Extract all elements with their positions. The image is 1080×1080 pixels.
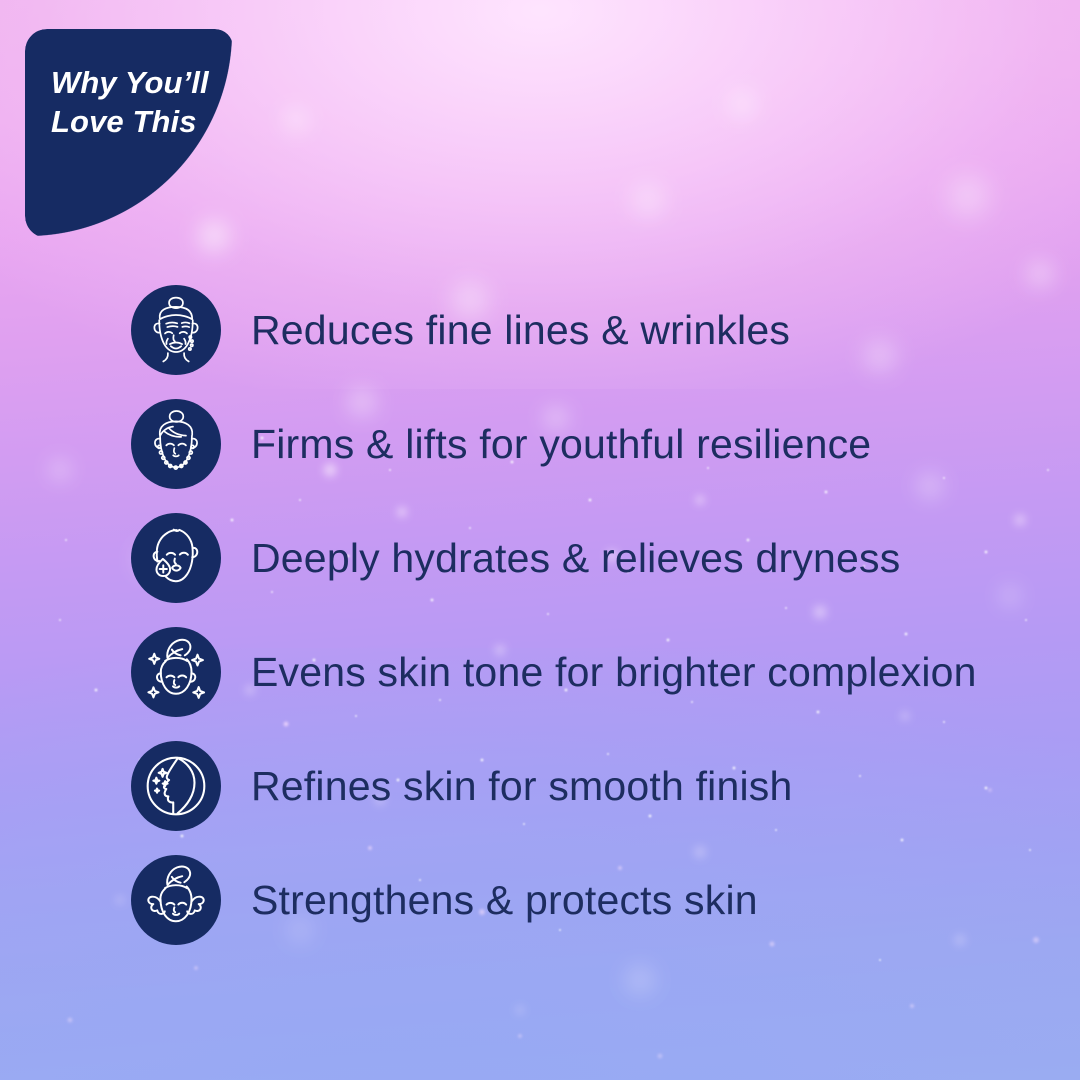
face-leaf-wrap-hands-icon <box>131 855 221 945</box>
why-youll-love-this-badge: Why You’ll Love This <box>25 29 233 238</box>
face-profile-sparkles-icon <box>131 741 221 831</box>
benefit-label: Firms & lifts for youthful resilience <box>251 424 871 465</box>
face-towel-wrap-sparkles-icon <box>131 627 221 717</box>
badge-title: Why You’ll Love This <box>51 63 221 141</box>
benefit-label: Evens skin tone for brighter complexion <box>251 652 977 693</box>
benefit-label: Strengthens & protects skin <box>251 880 758 921</box>
benefit-label: Deeply hydrates & relieves dryness <box>251 538 900 579</box>
benefit-label: Refines skin for smooth finish <box>251 766 793 807</box>
benefit-item: Firms & lifts for youthful resilience <box>131 387 1061 501</box>
benefit-item: Deeply hydrates & relieves dryness <box>131 501 1061 615</box>
benefit-item: Refines skin for smooth finish <box>131 729 1061 843</box>
face-water-droplet-plus-icon <box>131 513 221 603</box>
face-firming-contour-icon <box>131 399 221 489</box>
face-wrinkles-icon <box>131 285 221 375</box>
benefit-item: Evens skin tone for brighter complexion <box>131 615 1061 729</box>
promo-graphic: Why You’ll Love This <box>0 0 1080 1080</box>
benefits-list: Reduces fine lines & wrinkles <box>131 273 1061 957</box>
benefit-label: Reduces fine lines & wrinkles <box>251 310 790 351</box>
benefit-item: Reduces fine lines & wrinkles <box>131 273 1061 387</box>
benefit-item: Strengthens & protects skin <box>131 843 1061 957</box>
